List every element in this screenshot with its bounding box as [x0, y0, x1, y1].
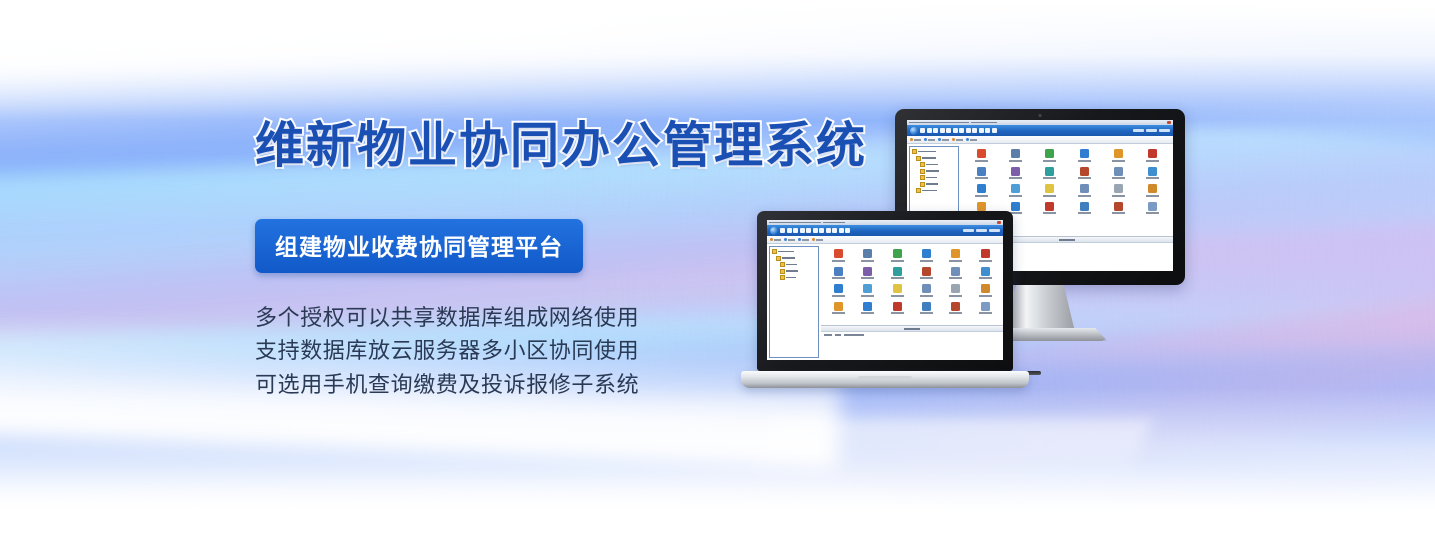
module-icon	[922, 302, 931, 311]
module-icon	[893, 302, 902, 311]
module-icon	[863, 284, 872, 293]
app-icon-cell[interactable]	[913, 249, 940, 262]
app-icon-cell[interactable]	[825, 284, 852, 297]
module-icon	[922, 267, 931, 276]
module-label	[861, 277, 874, 279]
app-icon-cell[interactable]	[1034, 202, 1066, 215]
module-label	[861, 312, 874, 314]
app-icon-cell[interactable]	[854, 284, 881, 297]
app-icon-cell[interactable]	[942, 267, 969, 280]
app-icon-cell[interactable]	[999, 184, 1031, 197]
module-label	[920, 312, 933, 314]
app-icon-cell[interactable]	[825, 249, 852, 262]
app-icon-cell[interactable]	[1102, 149, 1134, 162]
app-status-panel	[821, 325, 1003, 360]
module-label	[891, 312, 904, 314]
module-icon	[951, 302, 960, 311]
module-label	[1146, 177, 1159, 179]
module-icon	[922, 284, 931, 293]
app-icon-cell[interactable]	[1034, 167, 1066, 180]
app-close-button[interactable]	[1167, 121, 1171, 124]
background-bottom-fade	[0, 388, 1435, 538]
module-icon	[977, 184, 986, 193]
cta-button[interactable]: 组建物业收费协同管理平台	[255, 219, 583, 273]
module-icon	[977, 149, 986, 158]
module-label	[975, 195, 988, 197]
module-icon	[951, 267, 960, 276]
app-icon-cell[interactable]	[1137, 167, 1169, 180]
app-icon-cell[interactable]	[1137, 184, 1169, 197]
module-label	[1112, 160, 1125, 162]
module-icon	[1045, 202, 1054, 211]
app-main-panel	[821, 244, 1003, 360]
app-icon-cell[interactable]	[854, 302, 881, 315]
app-icon-cell[interactable]	[884, 302, 911, 315]
module-icon	[951, 284, 960, 293]
app-icon-cell[interactable]	[1137, 202, 1169, 215]
laptop-app-screen	[767, 220, 1003, 360]
module-icon	[1148, 149, 1157, 158]
app-icon-cell[interactable]	[972, 249, 999, 262]
app-icon-cell[interactable]	[972, 302, 999, 315]
module-icon	[834, 267, 843, 276]
app-icon-cell[interactable]	[1068, 167, 1100, 180]
app-icon-cell[interactable]	[1068, 202, 1100, 215]
module-icon	[1011, 167, 1020, 176]
module-label	[979, 295, 992, 297]
app-icon-cell[interactable]	[972, 267, 999, 280]
module-label	[1078, 212, 1091, 214]
module-label	[832, 277, 845, 279]
module-icon	[1045, 149, 1054, 158]
module-label	[1043, 212, 1056, 214]
app-icon-cell[interactable]	[1102, 167, 1134, 180]
app-icon-cell[interactable]	[1034, 184, 1066, 197]
app-icon-cell[interactable]	[913, 284, 940, 297]
laptop-trackpad	[858, 376, 912, 380]
module-icon	[1080, 202, 1089, 211]
module-label	[891, 260, 904, 262]
module-label	[891, 277, 904, 279]
promo-banner: 维新物业协同办公管理系统 组建物业收费协同管理平台 多个授权可以共享数据库组成网…	[0, 0, 1435, 538]
module-icon	[1080, 184, 1089, 193]
module-label	[949, 295, 962, 297]
module-label	[949, 260, 962, 262]
module-icon	[1080, 149, 1089, 158]
module-icon	[834, 302, 843, 311]
module-icon	[1011, 184, 1020, 193]
module-label	[832, 295, 845, 297]
module-icon	[893, 284, 902, 293]
app-header	[907, 125, 1173, 136]
laptop	[757, 211, 1013, 371]
module-label	[949, 277, 962, 279]
module-icon	[1148, 202, 1157, 211]
module-icon	[1148, 184, 1157, 193]
app-body	[767, 244, 1003, 360]
module-label	[1146, 195, 1159, 197]
app-header-actions[interactable]	[963, 229, 1000, 232]
app-icon-cell[interactable]	[1137, 149, 1169, 162]
app-icon-cell[interactable]	[884, 267, 911, 280]
module-icon	[981, 267, 990, 276]
app-header-actions[interactable]	[1133, 129, 1170, 132]
module-label	[1078, 177, 1091, 179]
module-icon	[977, 167, 986, 176]
app-icon-cell[interactable]	[972, 284, 999, 297]
module-icon	[1080, 167, 1089, 176]
app-icon-cell[interactable]	[999, 167, 1031, 180]
background-top-fade	[0, 0, 1435, 120]
monitor-stand-neck	[1005, 285, 1075, 332]
module-label	[1009, 195, 1022, 197]
app-menu-bar[interactable]	[780, 228, 850, 233]
app-icon-cell[interactable]	[1068, 184, 1100, 197]
app-logo-icon	[910, 127, 918, 135]
module-icon	[1114, 202, 1123, 211]
module-icon	[977, 202, 986, 211]
app-icon-cell[interactable]	[1102, 202, 1134, 215]
module-label	[979, 312, 992, 314]
module-icon	[1114, 184, 1123, 193]
app-icon-cell[interactable]	[965, 167, 997, 180]
module-label	[949, 312, 962, 314]
module-label	[1146, 160, 1159, 162]
module-label	[1146, 212, 1159, 214]
device-mockups	[735, 95, 1205, 425]
module-icon	[834, 284, 843, 293]
module-label	[1112, 212, 1125, 214]
app-icon-cell[interactable]	[884, 284, 911, 297]
module-label	[975, 160, 988, 162]
module-icon	[1045, 184, 1054, 193]
app-icon-cell[interactable]	[825, 302, 852, 315]
app-header	[767, 225, 1003, 236]
app-close-button[interactable]	[997, 221, 1001, 224]
module-label	[975, 177, 988, 179]
module-icon	[1114, 167, 1123, 176]
webcam-icon	[1039, 114, 1042, 117]
module-label	[1043, 177, 1056, 179]
module-label	[1078, 160, 1091, 162]
module-icon	[863, 249, 872, 258]
module-label	[861, 295, 874, 297]
app-icon-cell[interactable]	[854, 267, 881, 280]
module-label	[920, 295, 933, 297]
module-icon	[1011, 149, 1020, 158]
device-reflection	[748, 420, 1152, 480]
module-icon	[1011, 202, 1020, 211]
module-icon	[981, 284, 990, 293]
module-icon	[893, 267, 902, 276]
module-icon	[893, 249, 902, 258]
app-icon-grid[interactable]	[821, 244, 1003, 325]
app-tree-sidebar[interactable]	[769, 246, 819, 358]
module-label	[832, 260, 845, 262]
module-icon	[863, 267, 872, 276]
app-logo-icon	[770, 227, 778, 235]
module-icon	[863, 302, 872, 311]
module-icon	[834, 249, 843, 258]
module-icon	[951, 249, 960, 258]
module-label	[1112, 177, 1125, 179]
app-icon-cell[interactable]	[999, 149, 1031, 162]
module-label	[891, 295, 904, 297]
module-label	[1112, 195, 1125, 197]
module-label	[1043, 195, 1056, 197]
app-icon-cell[interactable]	[1102, 184, 1134, 197]
app-toolbar[interactable]	[767, 236, 1003, 244]
module-label	[1009, 177, 1022, 179]
module-icon	[1045, 167, 1054, 176]
module-label	[979, 260, 992, 262]
app-icon-cell[interactable]	[942, 302, 969, 315]
app-icon-cell[interactable]	[913, 267, 940, 280]
app-icon-cell[interactable]	[913, 302, 940, 315]
app-icon-cell[interactable]	[1068, 149, 1100, 162]
app-icon-cell[interactable]	[1034, 149, 1066, 162]
module-icon	[1114, 149, 1123, 158]
app-icon-cell[interactable]	[884, 249, 911, 262]
module-icon	[981, 302, 990, 311]
module-label	[861, 260, 874, 262]
module-label	[1043, 160, 1056, 162]
module-label	[979, 277, 992, 279]
module-label	[920, 260, 933, 262]
app-icon-cell[interactable]	[942, 249, 969, 262]
app-toolbar[interactable]	[907, 136, 1173, 144]
module-icon	[922, 249, 931, 258]
module-label	[920, 277, 933, 279]
module-icon	[981, 249, 990, 258]
module-label	[832, 312, 845, 314]
app-icon-cell[interactable]	[965, 149, 997, 162]
module-icon	[1148, 167, 1157, 176]
app-icon-cell[interactable]	[854, 249, 881, 262]
app-icon-cell[interactable]	[965, 184, 997, 197]
app-menu-bar[interactable]	[920, 128, 997, 133]
app-icon-cell[interactable]	[942, 284, 969, 297]
laptop-bezel	[757, 211, 1013, 371]
module-label	[1009, 160, 1022, 162]
module-label	[1078, 195, 1091, 197]
app-icon-cell[interactable]	[825, 267, 852, 280]
